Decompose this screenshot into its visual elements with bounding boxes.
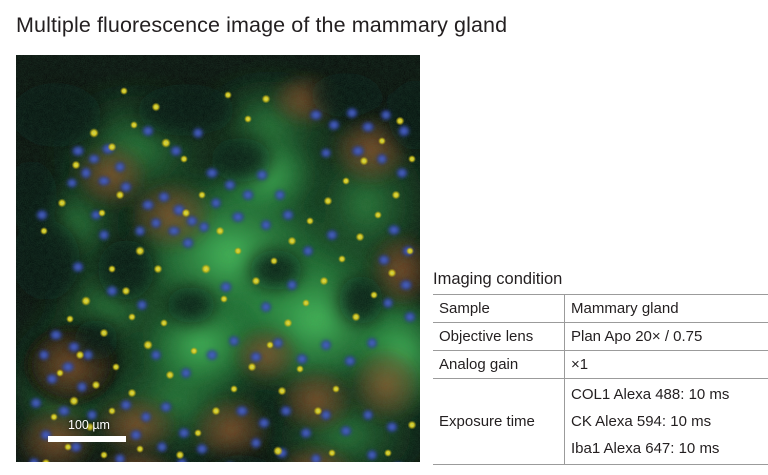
- exposure-item-ck: CK Alexa 594: 10 ms: [571, 408, 768, 435]
- exposure-item-iba1: Iba1 Alexa 647: 10 ms: [571, 435, 768, 462]
- row-value-analog-gain: ×1: [565, 351, 768, 379]
- fluorescence-micrograph: 100 µm: [16, 55, 420, 462]
- scale-bar-label: 100 µm: [48, 418, 168, 432]
- table-row: Sample Mammary gland: [433, 295, 768, 323]
- row-label-analog-gain: Analog gain: [433, 351, 565, 379]
- imaging-condition-table: Sample Mammary gland Objective lens Plan…: [433, 294, 768, 465]
- table-row-exposure: Exposure time COL1 Alexa 488: 10 ms CK A…: [433, 379, 768, 465]
- row-label-objective-lens: Objective lens: [433, 323, 565, 351]
- imaging-condition-heading: Imaging condition: [433, 268, 758, 290]
- row-label-sample: Sample: [433, 295, 565, 323]
- table-row: Objective lens Plan Apo 20× / 0.75: [433, 323, 768, 351]
- row-value-objective-lens: Plan Apo 20× / 0.75: [565, 323, 768, 351]
- row-label-exposure-time: Exposure time: [433, 379, 565, 465]
- micrograph-canvas: [16, 55, 420, 462]
- figure-panel: Multiple fluorescence image of the mamma…: [0, 0, 768, 475]
- exposure-item-col1: COL1 Alexa 488: 10 ms: [571, 381, 768, 408]
- imaging-condition-block: Imaging condition Sample Mammary gland O…: [433, 268, 758, 465]
- exposure-list: COL1 Alexa 488: 10 ms CK Alexa 594: 10 m…: [571, 381, 768, 462]
- row-value-sample: Mammary gland: [565, 295, 768, 323]
- scale-bar-line: [48, 436, 126, 442]
- page-title: Multiple fluorescence image of the mamma…: [16, 10, 507, 40]
- scale-bar: 100 µm: [48, 418, 168, 442]
- table-row: Analog gain ×1: [433, 351, 768, 379]
- row-value-exposure-time: COL1 Alexa 488: 10 ms CK Alexa 594: 10 m…: [565, 379, 768, 465]
